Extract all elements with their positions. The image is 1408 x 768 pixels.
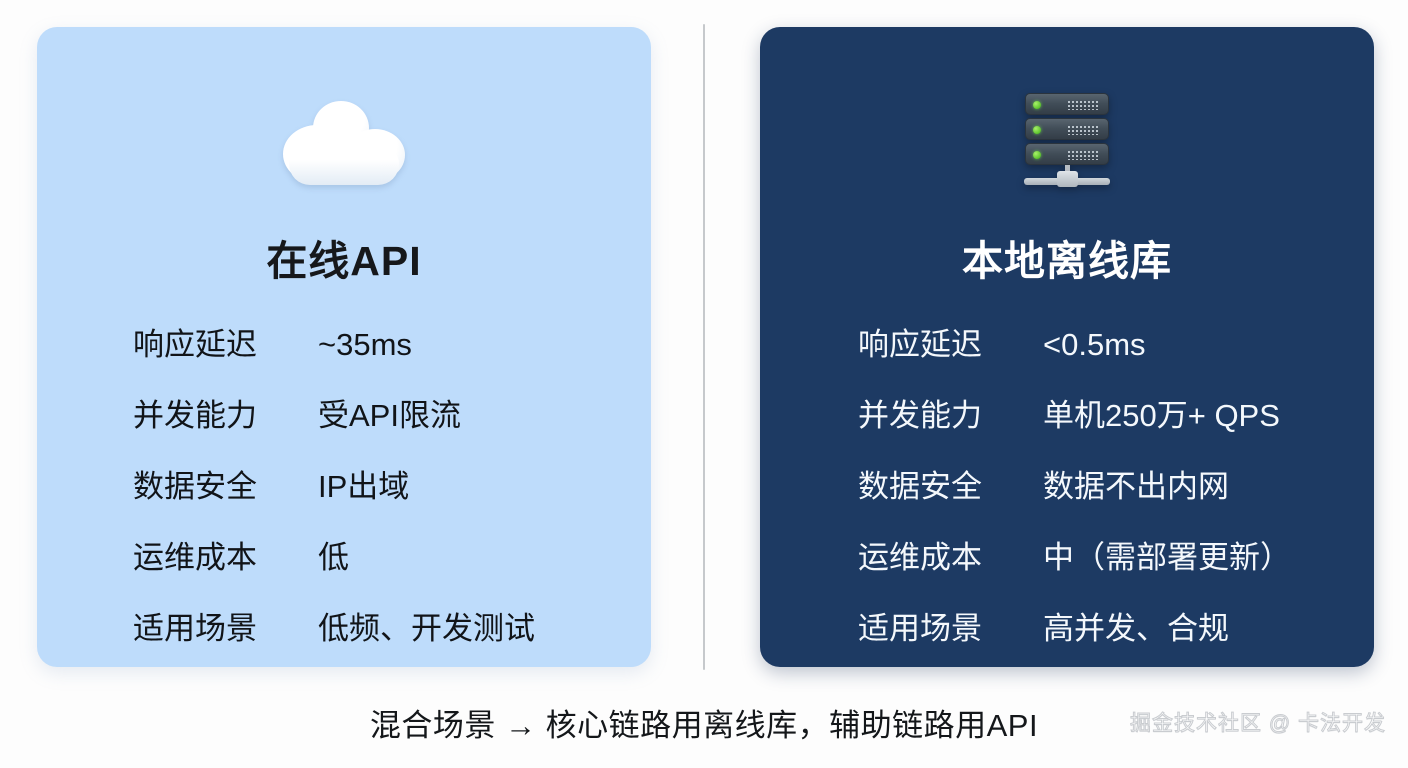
spec-row: 响应延迟 ~35ms: [37, 319, 651, 390]
vertical-divider: [703, 24, 705, 670]
spec-label: 响应延迟: [858, 319, 1043, 364]
card-title-local-offline-db: 本地离线库: [760, 227, 1374, 287]
spec-value: 单机250万+ QPS: [1043, 390, 1280, 435]
server-led: [1033, 101, 1041, 109]
server-rack-icon: [760, 85, 1374, 201]
spec-row: 响应延迟 <0.5ms: [760, 319, 1374, 390]
server-vents: [1067, 125, 1099, 135]
spec-list-online-api: 响应延迟 ~35ms 并发能力 受API限流 数据安全 IP出域 运维成本 低 …: [37, 319, 651, 667]
comparison-infographic: 在线API 响应延迟 ~35ms 并发能力 受API限流 数据安全 IP出域 运…: [0, 0, 1408, 768]
server-unit: [1025, 118, 1109, 140]
server-unit: [1025, 143, 1109, 165]
cloud-icon: [37, 85, 651, 201]
server-led: [1033, 151, 1041, 159]
spec-row: 并发能力 受API限流: [37, 390, 651, 461]
spec-label: 数据安全: [858, 461, 1043, 506]
server-vents: [1067, 150, 1099, 160]
spec-value: <0.5ms: [1043, 327, 1146, 363]
spec-row: 数据安全 数据不出内网: [760, 461, 1374, 532]
server-led: [1033, 126, 1041, 134]
cloud-icon-glyph: [283, 101, 405, 185]
spec-row: 运维成本 低: [37, 532, 651, 603]
spec-value: 数据不出内网: [1043, 461, 1229, 506]
spec-row: 数据安全 IP出域: [37, 461, 651, 532]
watermark: 掘金技术社区 @ 卡法开发: [1130, 707, 1386, 737]
spec-value: 受API限流: [318, 390, 461, 435]
server-unit: [1025, 93, 1109, 115]
spec-list-local-offline-db: 响应延迟 <0.5ms 并发能力 单机250万+ QPS 数据安全 数据不出内网…: [760, 319, 1374, 667]
spec-row: 运维成本 中（需部署更新）: [760, 532, 1374, 603]
spec-row: 并发能力 单机250万+ QPS: [760, 390, 1374, 461]
spec-row: 适用场景 低频、开发测试: [37, 603, 651, 667]
spec-label: 数据安全: [133, 461, 318, 506]
spec-row: 适用场景 高并发、合规: [760, 603, 1374, 667]
comparison-card-local-offline-db: 本地离线库 响应延迟 <0.5ms 并发能力 单机250万+ QPS 数据安全 …: [760, 27, 1374, 667]
comparison-card-online-api: 在线API 响应延迟 ~35ms 并发能力 受API限流 数据安全 IP出域 运…: [37, 27, 651, 667]
card-title-online-api: 在线API: [37, 227, 651, 287]
spec-label: 运维成本: [858, 532, 1043, 577]
spec-value: ~35ms: [318, 327, 412, 363]
spec-label: 并发能力: [858, 390, 1043, 435]
spec-label: 运维成本: [133, 532, 318, 577]
spec-label: 响应延迟: [133, 319, 318, 364]
server-vents: [1067, 100, 1099, 110]
server-network-hub: [1057, 171, 1078, 187]
spec-label: 并发能力: [133, 390, 318, 435]
spec-value: 高并发、合规: [1043, 603, 1229, 648]
spec-value: 低: [318, 532, 349, 577]
spec-label: 适用场景: [133, 603, 318, 648]
spec-value: 中（需部署更新）: [1043, 532, 1291, 577]
spec-value: 低频、开发测试: [318, 603, 535, 648]
cloud-base: [289, 143, 399, 185]
server-rack-icon-glyph: [1015, 91, 1119, 195]
spec-label: 适用场景: [858, 603, 1043, 648]
spec-value: IP出域: [318, 461, 409, 506]
